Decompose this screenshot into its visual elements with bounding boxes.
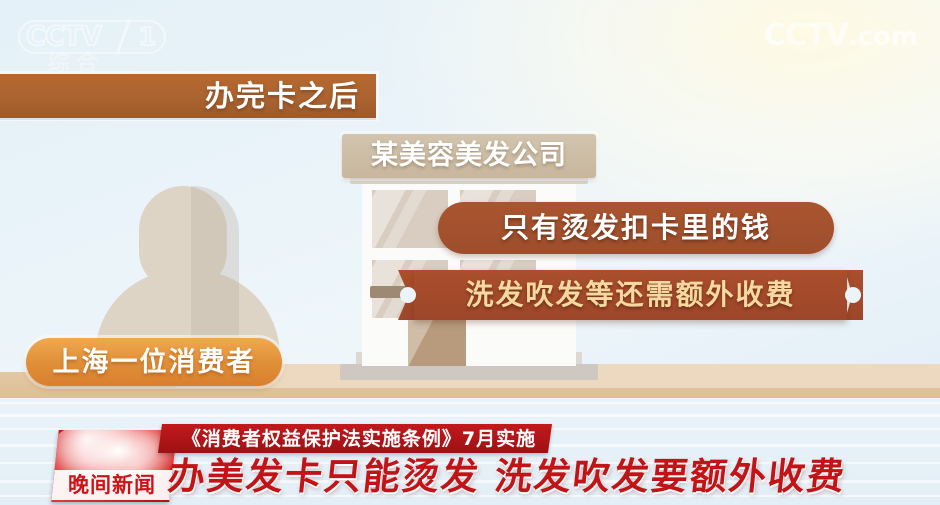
top-banner: 办完卡之后 [0, 74, 376, 118]
ribbon-banner: 洗发吹发等还需额外收费 [398, 270, 863, 320]
ribbon-right-notch [845, 287, 861, 303]
logo-outline [18, 20, 166, 54]
ribbon-body: 洗发吹发等还需额外收费 [414, 270, 847, 320]
program-name-band: 晚间新闻 [51, 470, 172, 500]
consumer-label: 上海一位消费者 [53, 346, 256, 379]
speech-bubble-pill: 只有烫发扣卡里的钱 [438, 202, 834, 254]
broadcast-frame: CCTV 1 综合 CCTV.com 办完卡之后 [0, 0, 940, 505]
top-banner-label: 办完卡之后 [205, 79, 360, 113]
lower-third: 晚间新闻 《消费者权益保护法实施条例》7月实施 办美发卡只能烫发 洗发吹发要额外… [0, 418, 940, 505]
consumer-label-pill: 上海一位消费者 [26, 338, 282, 386]
cctv-com-watermark: CCTV.com [764, 20, 918, 53]
program-name-label: 晚间新闻 [68, 473, 156, 497]
ribbon-left-notch [400, 287, 416, 303]
shop-window [372, 190, 448, 248]
subtitle-label: 《消费者权益保护法实施条例》7月实施 [182, 427, 536, 451]
cctv-channel-logo: CCTV 1 综合 [18, 18, 168, 74]
watermark-brand: CCTV [764, 18, 848, 53]
shop-sign-label: 某美容美发公司 [371, 140, 567, 172]
cctv-logo-text: CCTV [26, 22, 130, 52]
shop-sign: 某美容美发公司 [342, 134, 596, 178]
program-logo: 晚间新闻 [51, 430, 177, 502]
ribbon-banner-label: 洗发吹发等还需额外收费 [465, 278, 795, 312]
headline-text: 办美发卡只能烫发 洗发吹发要额外收费 [166, 454, 849, 500]
watermark-domain: .com [848, 22, 918, 52]
salon-shop-illustration: 某美容美发公司 [318, 134, 620, 380]
channel-number: 1 [139, 21, 156, 52]
subtitle-bar: 《消费者权益保护法实施条例》7月实施 [158, 424, 552, 453]
shop-plinth [340, 364, 598, 380]
logo-divider [116, 19, 132, 54]
speech-bubble-label: 只有烫发扣卡里的钱 [501, 211, 771, 245]
channel-sub-label: 综合 [48, 52, 104, 76]
